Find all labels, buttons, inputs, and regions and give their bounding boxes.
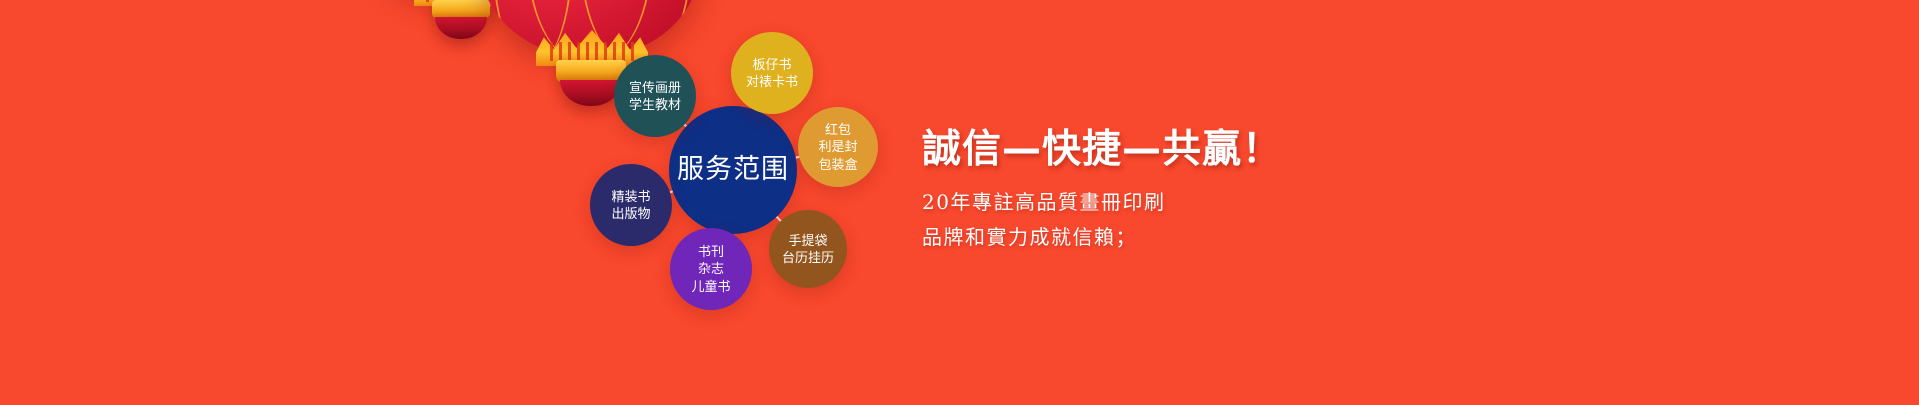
- bubble-label-line: 利是封: [818, 138, 857, 155]
- bubble-label-line: 杂志: [698, 260, 724, 277]
- lantern-crown: [536, 30, 648, 66]
- bubble-promo-books[interactable]: 宣传画册学生教材: [614, 55, 696, 137]
- promo-banner: 服务范围 宣传画册学生教材 板仔书对裱卡书 红包利是封包装盒 手提袋台历挂历 书…: [0, 0, 1919, 405]
- bubble-label-line: 板仔书: [752, 56, 791, 73]
- lantern-crown-lines: [426, 0, 494, 2]
- bubble-label-line: 对裱卡书: [746, 73, 798, 90]
- bubble-handbags-calendars[interactable]: 手提袋台历挂历: [769, 210, 847, 288]
- bubble-label-line: 手提袋: [788, 232, 827, 249]
- bubble-board-books[interactable]: 板仔书对裱卡书: [731, 32, 813, 114]
- bubble-label-line: 台历挂历: [782, 249, 834, 266]
- bubble-red-packets[interactable]: 红包利是封包装盒: [798, 107, 878, 187]
- bubble-label-line: 儿童书: [691, 278, 730, 295]
- bubble-label-line: 书刊: [698, 243, 724, 260]
- bubble-label-line: 学生教材: [629, 96, 681, 113]
- service-scope-center-bubble[interactable]: 服务范围: [669, 106, 797, 234]
- lantern-skirt: [560, 80, 622, 106]
- lantern-crown: [414, 0, 506, 6]
- subline-2: 品牌和實力成就信賴；: [922, 221, 1282, 250]
- bubble-label-line: 精装书: [611, 188, 650, 205]
- headline: 誠信—快捷—共贏！: [922, 118, 1282, 174]
- lantern-rib: [581, 0, 691, 58]
- lantern-cap: [556, 60, 626, 82]
- bubble-hardcover[interactable]: 精装书出版物: [590, 164, 672, 246]
- bubble-label-line: 宣传画册: [629, 79, 681, 96]
- subline-1: 20年專註高品質畫冊印刷: [922, 186, 1282, 215]
- bubble-label-line: 出版物: [611, 205, 650, 222]
- lantern-body: [480, 0, 700, 58]
- slogan-block: 誠信—快捷—共贏！ 20年專註高品質畫冊印刷 品牌和實力成就信賴；: [922, 118, 1282, 250]
- center-bubble-label: 服务范围: [677, 152, 789, 188]
- bubble-label-line: 红包: [825, 121, 851, 138]
- lantern-cap: [432, 0, 490, 19]
- chinese-lantern: [370, 0, 548, 20]
- lantern-rib: [493, 0, 572, 58]
- lantern-skirt: [435, 17, 487, 39]
- lantern-rib: [528, 0, 651, 58]
- bubble-label-line: 包装盒: [818, 156, 857, 173]
- bubble-magazines[interactable]: 书刊杂志儿童书: [670, 228, 752, 310]
- lantern-crown-lines: [550, 42, 634, 61]
